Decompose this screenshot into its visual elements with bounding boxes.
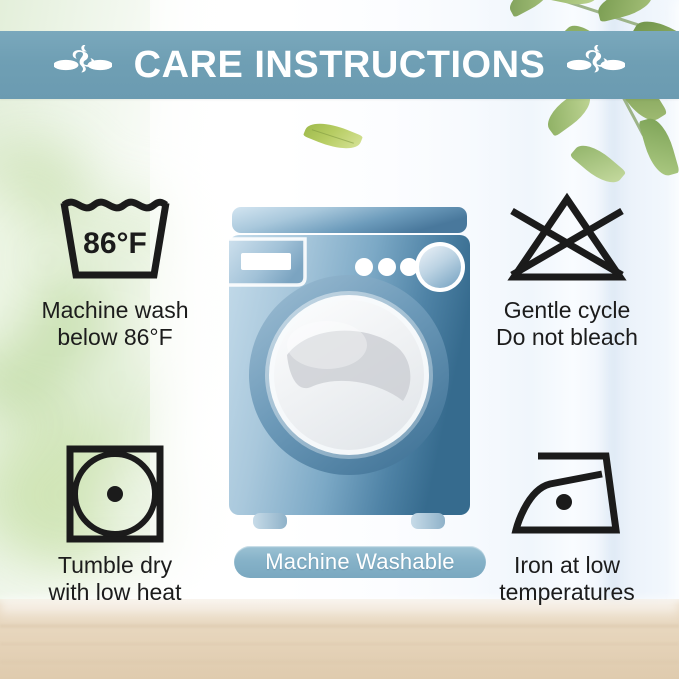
care-item-caption: Tumble dry with low heat [10, 552, 220, 606]
badge-label: Machine Washable [265, 549, 454, 575]
wash-basin-icon: 86°F [10, 185, 220, 293]
triangle-crossed-out-icon [462, 185, 672, 293]
caption-line-2: below 86°F [10, 324, 220, 351]
fleur-de-lis-right-icon [567, 45, 625, 85]
fleur-de-lis-left-icon [54, 45, 112, 85]
care-item-caption: Iron at low temperatures [462, 552, 672, 606]
iron-one-dot-icon [462, 440, 672, 548]
care-item-tumble-dry: Tumble dry with low heat [10, 440, 220, 606]
page-title: CARE INSTRUCTIONS [134, 46, 546, 84]
caption-line-2: Do not bleach [462, 324, 672, 351]
caption-line-1: Gentle cycle [462, 297, 672, 324]
caption-line-2: temperatures [462, 579, 672, 606]
caption-line-2: with low heat [10, 579, 220, 606]
header-banner: CARE INSTRUCTIONS [0, 31, 679, 99]
wash-temperature-text: 86°F [83, 227, 147, 260]
care-item-caption: Machine wash below 86°F [10, 297, 220, 351]
wooden-table-surface [0, 599, 679, 679]
tumble-dry-low-heat-icon [10, 440, 220, 548]
caption-line-1: Iron at low [462, 552, 672, 579]
caption-line-1: Machine wash [10, 297, 220, 324]
care-item-caption: Gentle cycle Do not bleach [462, 297, 672, 351]
machine-washable-badge: Machine Washable [234, 546, 486, 578]
care-item-machine-wash: 86°F Machine wash below 86°F [10, 185, 220, 351]
care-item-iron: Iron at low temperatures [462, 440, 672, 606]
care-instructions-poster: CARE INSTRUCTIONS 86°F Machine wash belo… [0, 0, 679, 679]
washing-machine-illustration [227, 205, 472, 540]
care-item-gentle-cycle-no-bleach: Gentle cycle Do not bleach [462, 185, 672, 351]
caption-line-1: Tumble dry [10, 552, 220, 579]
